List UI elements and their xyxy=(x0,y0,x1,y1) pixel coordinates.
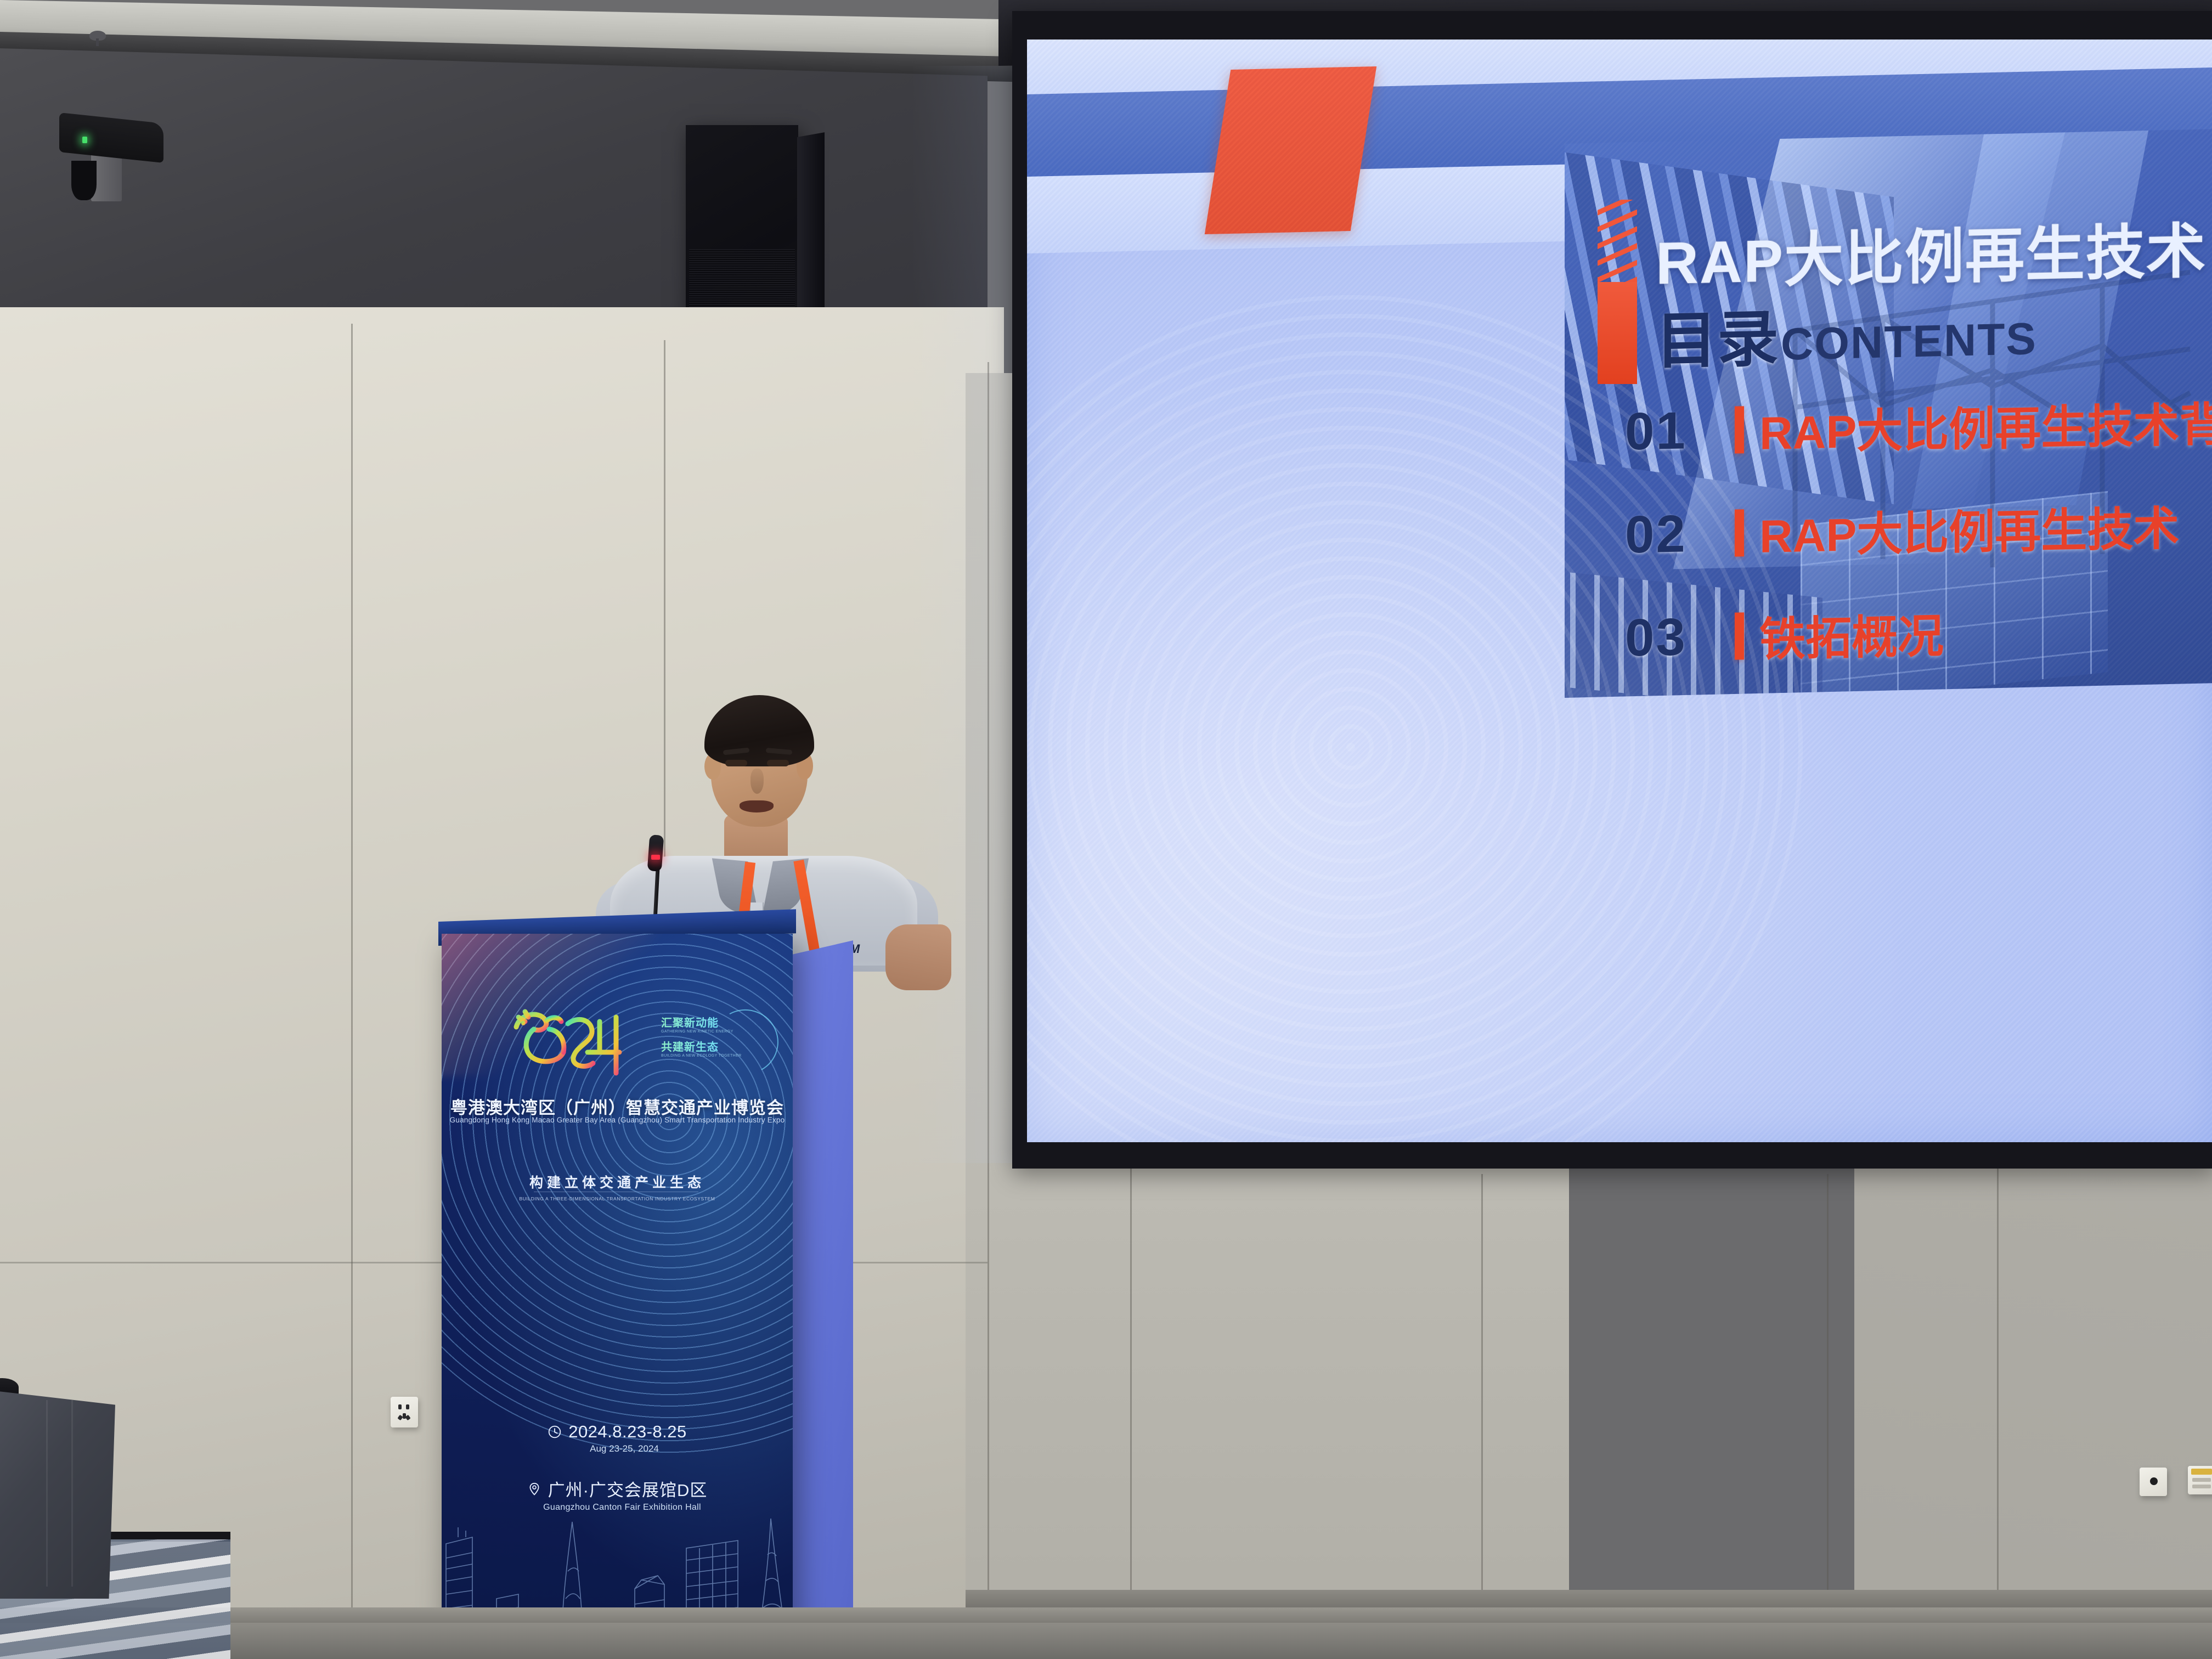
toc-item: 03 铁拓概况 xyxy=(1625,590,2212,673)
lectern-side-panel xyxy=(792,940,853,1657)
expo-slogan: 汇聚新动能 GATHERING NEW KINETIC ENERGY 共建新生态… xyxy=(661,1014,771,1074)
event-date-row: 2024.8.23-8.25 xyxy=(442,1422,793,1442)
year-2024-dragon-logo xyxy=(506,1005,644,1082)
camera-lens xyxy=(71,161,97,200)
event-location-cn: 广州·广交会展馆D区 xyxy=(548,1476,708,1501)
floor xyxy=(0,1623,2212,1659)
camera-status-led-icon xyxy=(82,137,87,143)
accent-solid-bar xyxy=(1598,282,1637,384)
wall-port-plate[interactable] xyxy=(2140,1468,2167,1496)
hair xyxy=(704,695,814,766)
nose xyxy=(751,769,764,794)
table-cloth xyxy=(0,1390,115,1599)
round-port-icon xyxy=(2150,1477,2158,1485)
outlet-slot xyxy=(398,1404,402,1409)
wall-panel-seam xyxy=(1827,1174,1829,1602)
label-tape xyxy=(2191,1469,2212,1475)
microphone-capsule xyxy=(647,834,664,872)
contents-heading-en: CONTENTS xyxy=(1781,313,2037,371)
toc-number: 01 xyxy=(1625,400,1735,462)
toc-label: RAP大比例再生技术 xyxy=(1759,492,2179,566)
tagline-divider xyxy=(534,1192,698,1192)
eye-right xyxy=(767,760,789,766)
draped-side-table xyxy=(0,1378,126,1598)
conference-room-photo: EV xyxy=(0,0,2212,1659)
cloth-fold xyxy=(71,1400,73,1587)
expo-tagline-en: BUILDING A THREE-DIMENSIONAL TRANSPORTAT… xyxy=(442,1196,793,1201)
slide-table-of-contents: 01 RAP大比例再生技术背景 02 RAP大比例再生技术 03 铁拓概况 xyxy=(1625,391,2212,700)
security-camera xyxy=(59,118,166,206)
toc-label: RAP大比例再生技术背景 xyxy=(1759,386,2212,462)
event-location-en: Guangzhou Canton Fair Exhibition Hall xyxy=(452,1503,793,1513)
outlet-slot xyxy=(406,1404,409,1409)
camera-body xyxy=(59,112,163,163)
contents-heading-cn: 目录 xyxy=(1656,289,1779,381)
toc-number: 03 xyxy=(1625,606,1735,669)
toc-number: 02 xyxy=(1625,503,1735,566)
slide-contents-heading: 目录 CONTENTS xyxy=(1656,283,2037,381)
toc-item: 02 RAP大比例再生技术 xyxy=(1625,487,2212,570)
mouth xyxy=(740,800,774,812)
wall-connector-plate[interactable] xyxy=(2188,1466,2212,1494)
eye-left xyxy=(725,760,747,766)
toc-bullet-tick xyxy=(1735,406,1744,453)
lectern-front-panel: 汇聚新动能 GATHERING NEW KINETIC ENERGY 共建新生态… xyxy=(442,934,793,1659)
toc-item: 01 RAP大比例再生技术背景 xyxy=(1625,384,2212,467)
expo-name-cn: 粤港澳大湾区（广州）智慧交通产业博览会 xyxy=(442,1094,793,1119)
wall-panel-seam xyxy=(988,362,989,1596)
expo-name-en: Guangdong Hong Kong Macao Greater Bay Ar… xyxy=(442,1116,793,1124)
presentation-screen[interactable]: RAP大比例再生技术 目录 CONTENTS 01 RAP大比例再生技术背景 0… xyxy=(1027,39,2212,1142)
toc-bullet-tick xyxy=(1735,509,1744,556)
sprinkler-head-icon xyxy=(89,31,106,41)
toc-bullet-tick xyxy=(1735,612,1744,659)
location-pin-icon xyxy=(527,1482,541,1496)
connector-jack xyxy=(2192,1478,2211,1482)
toc-label: 铁拓概况 xyxy=(1759,599,1944,669)
clock-icon xyxy=(548,1425,562,1439)
cloth-fold xyxy=(46,1400,48,1587)
slide-title-accent-bar xyxy=(1598,200,1637,384)
event-meta-block: 2024.8.23-8.25 Aug 23-25, 2024 广州·广交会展馆D… xyxy=(442,1422,793,1513)
outlet-slot xyxy=(405,1415,410,1421)
microphone-active-led-icon xyxy=(651,855,660,860)
expo-tagline-cn: 构建立体交通产业生态 xyxy=(442,1172,793,1192)
wall-panel-seam xyxy=(1481,1174,1483,1602)
event-location-row: 广州·广交会展馆D区 xyxy=(442,1476,793,1501)
power-outlet[interactable] xyxy=(391,1397,418,1427)
event-date-en: Aug 23-25, 2024 xyxy=(456,1443,793,1454)
accent-stripes xyxy=(1598,200,1637,282)
wall-panel-seam xyxy=(1130,1169,1132,1602)
lectern: 汇聚新动能 GATHERING NEW KINETIC ENERGY 共建新生态… xyxy=(442,922,935,1659)
slide-orange-accent-shape xyxy=(1205,66,1376,234)
wall-panel-seam xyxy=(351,324,353,1607)
event-date-cn: 2024.8.23-8.25 xyxy=(568,1422,687,1442)
connector-jack xyxy=(2192,1485,2211,1488)
